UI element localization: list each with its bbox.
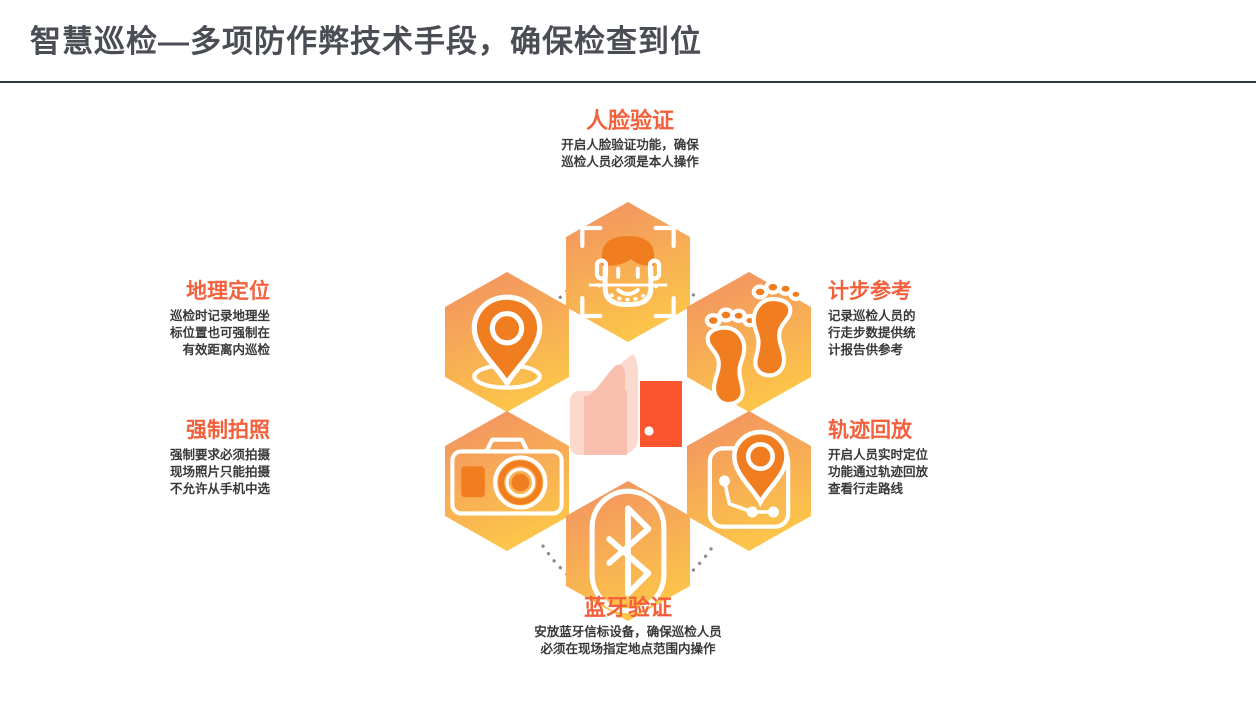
node-desc-line: 计报告供参考 bbox=[828, 342, 1088, 359]
node-text-track: 轨迹回放 开启人员实时定位 功能通过轨迹回放 查看行走路线 bbox=[828, 418, 1088, 498]
node-desc-line: 标位置也可强制在 bbox=[16, 325, 270, 342]
hex-node-geo[interactable] bbox=[445, 272, 569, 412]
footprints-icon bbox=[687, 272, 811, 412]
node-desc-line: 现场照片只能拍摄 bbox=[16, 464, 270, 481]
node-desc-line: 不允许从手机中选 bbox=[16, 481, 270, 498]
node-desc-line: 行走步数提供统 bbox=[828, 325, 1088, 342]
node-desc-line: 巡检人员必须是本人操作 bbox=[480, 154, 780, 171]
diagram-stage: 人脸验证 开启人脸验证功能，确保 巡检人员必须是本人操作 地理定位 巡检时记录地… bbox=[0, 83, 1256, 705]
node-desc-line: 功能通过轨迹回放 bbox=[828, 464, 1088, 481]
page-title: 智慧巡检—多项防作弊技术手段，确保检查到位 bbox=[30, 16, 702, 61]
node-text-bluetooth: 蓝牙验证 安放蓝牙信标设备，确保巡检人员 必须在现场指定地点范围内操作 bbox=[428, 595, 828, 658]
node-title-step: 计步参考 bbox=[828, 279, 1088, 305]
node-desc-line: 记录巡检人员的 bbox=[828, 308, 1088, 325]
node-desc-line: 有效距离内巡检 bbox=[16, 342, 270, 359]
node-title-bluetooth: 蓝牙验证 bbox=[428, 595, 828, 621]
face-scan-icon bbox=[566, 202, 690, 342]
node-desc-line: 巡检时记录地理坐 bbox=[16, 308, 270, 325]
node-title-photo: 强制拍照 bbox=[16, 418, 270, 444]
node-title-geo: 地理定位 bbox=[16, 279, 270, 305]
hex-node-step[interactable] bbox=[687, 272, 811, 412]
node-text-geo: 地理定位 巡检时记录地理坐 标位置也可强制在 有效距离内巡检 bbox=[16, 279, 270, 359]
map-pin-icon bbox=[445, 272, 569, 412]
camera-icon bbox=[445, 411, 569, 551]
node-desc-line: 安放蓝牙信标设备，确保巡检人员 bbox=[428, 624, 828, 641]
hex-node-photo[interactable] bbox=[445, 411, 569, 551]
node-desc-line: 开启人脸验证功能，确保 bbox=[480, 137, 780, 154]
node-desc-line: 强制要求必须拍摄 bbox=[16, 447, 270, 464]
thumbs-up-icon bbox=[554, 351, 702, 459]
node-desc-track: 开启人员实时定位 功能通过轨迹回放 查看行走路线 bbox=[828, 447, 1088, 498]
node-title-face: 人脸验证 bbox=[480, 108, 780, 134]
node-desc-step: 记录巡检人员的 行走步数提供统 计报告供参考 bbox=[828, 308, 1088, 359]
node-desc-bluetooth: 安放蓝牙信标设备，确保巡检人员 必须在现场指定地点范围内操作 bbox=[428, 624, 828, 658]
node-text-photo: 强制拍照 强制要求必须拍摄 现场照片只能拍摄 不允许从手机中选 bbox=[16, 418, 270, 498]
node-title-track: 轨迹回放 bbox=[828, 418, 1088, 444]
node-desc-geo: 巡检时记录地理坐 标位置也可强制在 有效距离内巡检 bbox=[16, 308, 270, 359]
center-thumbs-up bbox=[554, 351, 702, 459]
node-text-step: 计步参考 记录巡检人员的 行走步数提供统 计报告供参考 bbox=[828, 279, 1088, 359]
node-desc-line: 查看行走路线 bbox=[828, 481, 1088, 498]
node-text-face: 人脸验证 开启人脸验证功能，确保 巡检人员必须是本人操作 bbox=[480, 108, 780, 171]
node-desc-face: 开启人脸验证功能，确保 巡检人员必须是本人操作 bbox=[480, 137, 780, 171]
route-map-pin-icon bbox=[687, 411, 811, 551]
node-desc-line: 必须在现场指定地点范围内操作 bbox=[428, 641, 828, 658]
hex-node-face[interactable] bbox=[566, 202, 690, 342]
node-desc-line: 开启人员实时定位 bbox=[828, 447, 1088, 464]
page-header: 智慧巡检—多项防作弊技术手段，确保检查到位 bbox=[0, 0, 1256, 82]
hex-node-track[interactable] bbox=[687, 411, 811, 551]
node-desc-photo: 强制要求必须拍摄 现场照片只能拍摄 不允许从手机中选 bbox=[16, 447, 270, 498]
